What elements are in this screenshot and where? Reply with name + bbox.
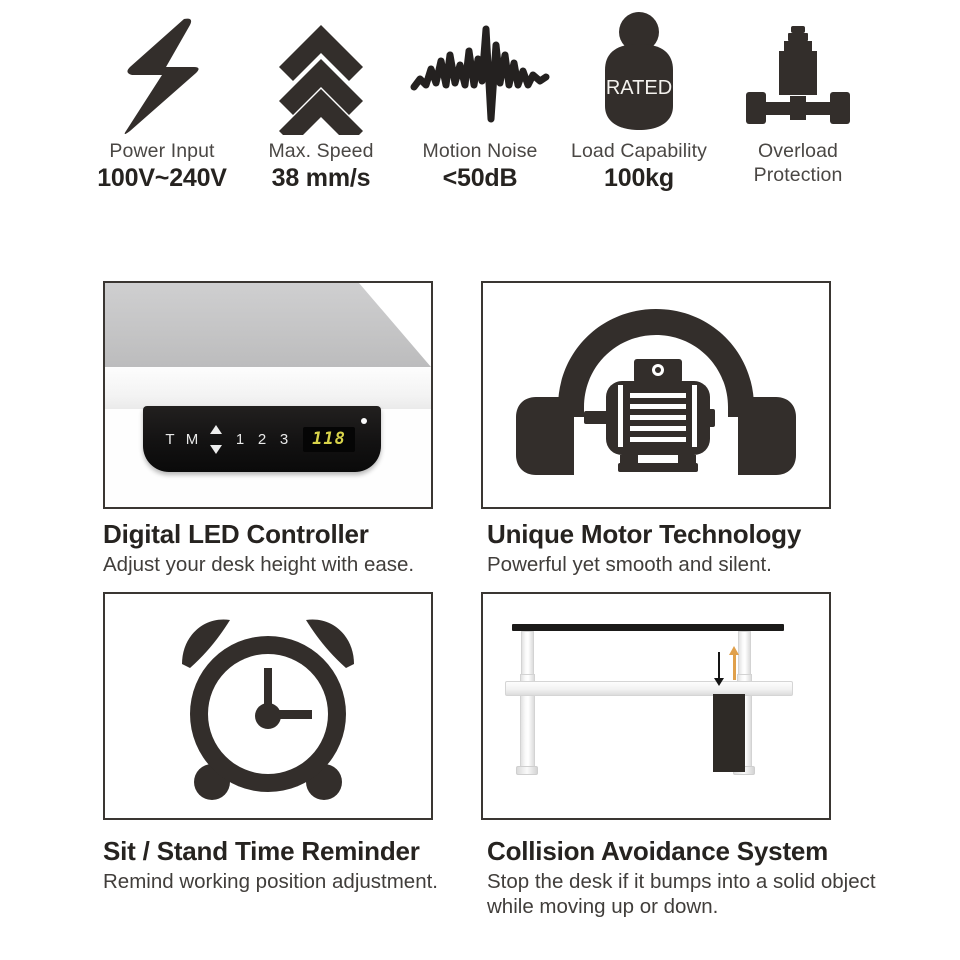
desk-cross-beam — [505, 681, 793, 696]
caption-sit-stand-time-reminder: Sit / Stand Time Reminder Remind working… — [103, 835, 483, 894]
card-title: Collision Avoidance System — [487, 835, 887, 867]
feature-card-digital-led-controller: T M 1 2 3 118 — [103, 281, 433, 509]
motor-with-headphones-icon — [506, 297, 806, 493]
led-key-m[interactable]: M — [181, 431, 203, 448]
desk-leg-left-upper — [521, 631, 534, 679]
led-preset-1[interactable]: 1 — [229, 431, 251, 448]
desk-frame-obstacle-illustration — [483, 594, 829, 818]
card-subtitle: Adjust your desk height with ease. — [103, 552, 478, 577]
desk-top-corner-bevel — [359, 283, 431, 367]
sound-waveform-icon — [410, 0, 550, 139]
alarm-clock-icon — [164, 606, 372, 806]
feature-card-sit-stand-time-reminder — [103, 592, 433, 820]
led-preset-3[interactable]: 3 — [273, 431, 295, 448]
desk-foot-left — [516, 766, 538, 775]
led-height-display: 118 — [303, 427, 355, 452]
desk-led-controller-photo: T M 1 2 3 118 — [105, 283, 431, 507]
card-subtitle: Powerful yet smooth and silent. — [487, 552, 887, 577]
spec-label: Motion Noise — [422, 139, 537, 163]
spec-item-max-speed: Max. Speed 38 mm/s — [245, 0, 397, 194]
desk-leg-right-upper — [738, 631, 751, 679]
card-subtitle: Remind working position adjustment. — [103, 869, 483, 894]
obstacle-block — [713, 694, 745, 772]
card-title: Digital LED Controller — [103, 518, 478, 550]
spec-item-load-capability: RATED Load Capability 100kg — [563, 0, 715, 194]
caption-collision-avoidance-system: Collision Avoidance System Stop the desk… — [487, 835, 887, 919]
spec-label: Max. Speed — [268, 139, 373, 163]
card-subtitle: Stop the desk if it bumps into a solid o… — [487, 869, 887, 919]
spec-label-line2: Protection — [754, 163, 843, 187]
rated-badge-text: RATED — [606, 77, 672, 99]
spec-value: 38 mm/s — [272, 163, 371, 194]
spec-item-overload-protection: Overload Protection — [722, 0, 874, 187]
spec-value: <50dB — [443, 163, 518, 194]
led-key-t[interactable]: T — [159, 431, 181, 448]
caption-unique-motor-technology: Unique Motor Technology Powerful yet smo… — [487, 518, 887, 577]
feature-card-unique-motor-technology — [481, 281, 831, 509]
card-title: Sit / Stand Time Reminder — [103, 835, 483, 867]
desk-front-edge — [105, 367, 431, 409]
spec-value: 100V~240V — [97, 163, 227, 194]
double-chevron-up-icon — [271, 0, 371, 139]
led-control-panel[interactable]: T M 1 2 3 118 — [143, 406, 381, 472]
rated-weight-icon: RATED — [589, 0, 689, 139]
led-preset-2[interactable]: 2 — [251, 431, 273, 448]
card-title: Unique Motor Technology — [487, 518, 887, 550]
spec-item-power-input: Power Input 100V~240V — [86, 0, 238, 194]
desk-tabletop — [512, 624, 784, 631]
spec-label-line1: Overload — [758, 139, 838, 163]
spec-label: Load Capability — [571, 139, 707, 163]
down-arrow-icon[interactable] — [210, 445, 222, 454]
lightning-bolt-icon — [112, 0, 212, 139]
led-arrow-group — [203, 425, 229, 454]
arrow-down-icon — [718, 652, 720, 679]
status-dot-icon — [361, 418, 367, 424]
spec-item-motion-noise: Motion Noise <50dB — [404, 0, 556, 194]
arrow-up-icon — [733, 654, 736, 680]
caption-digital-led-controller: Digital LED Controller Adjust your desk … — [103, 518, 478, 577]
spec-value: 100kg — [604, 163, 674, 194]
specs-strip: Power Input 100V~240V Max. Speed 38 mm/s… — [0, 0, 960, 258]
feature-card-collision-avoidance-system — [481, 592, 831, 820]
overload-weight-icon — [738, 0, 858, 139]
spec-label: Power Input — [109, 139, 214, 163]
up-arrow-icon[interactable] — [210, 425, 222, 434]
